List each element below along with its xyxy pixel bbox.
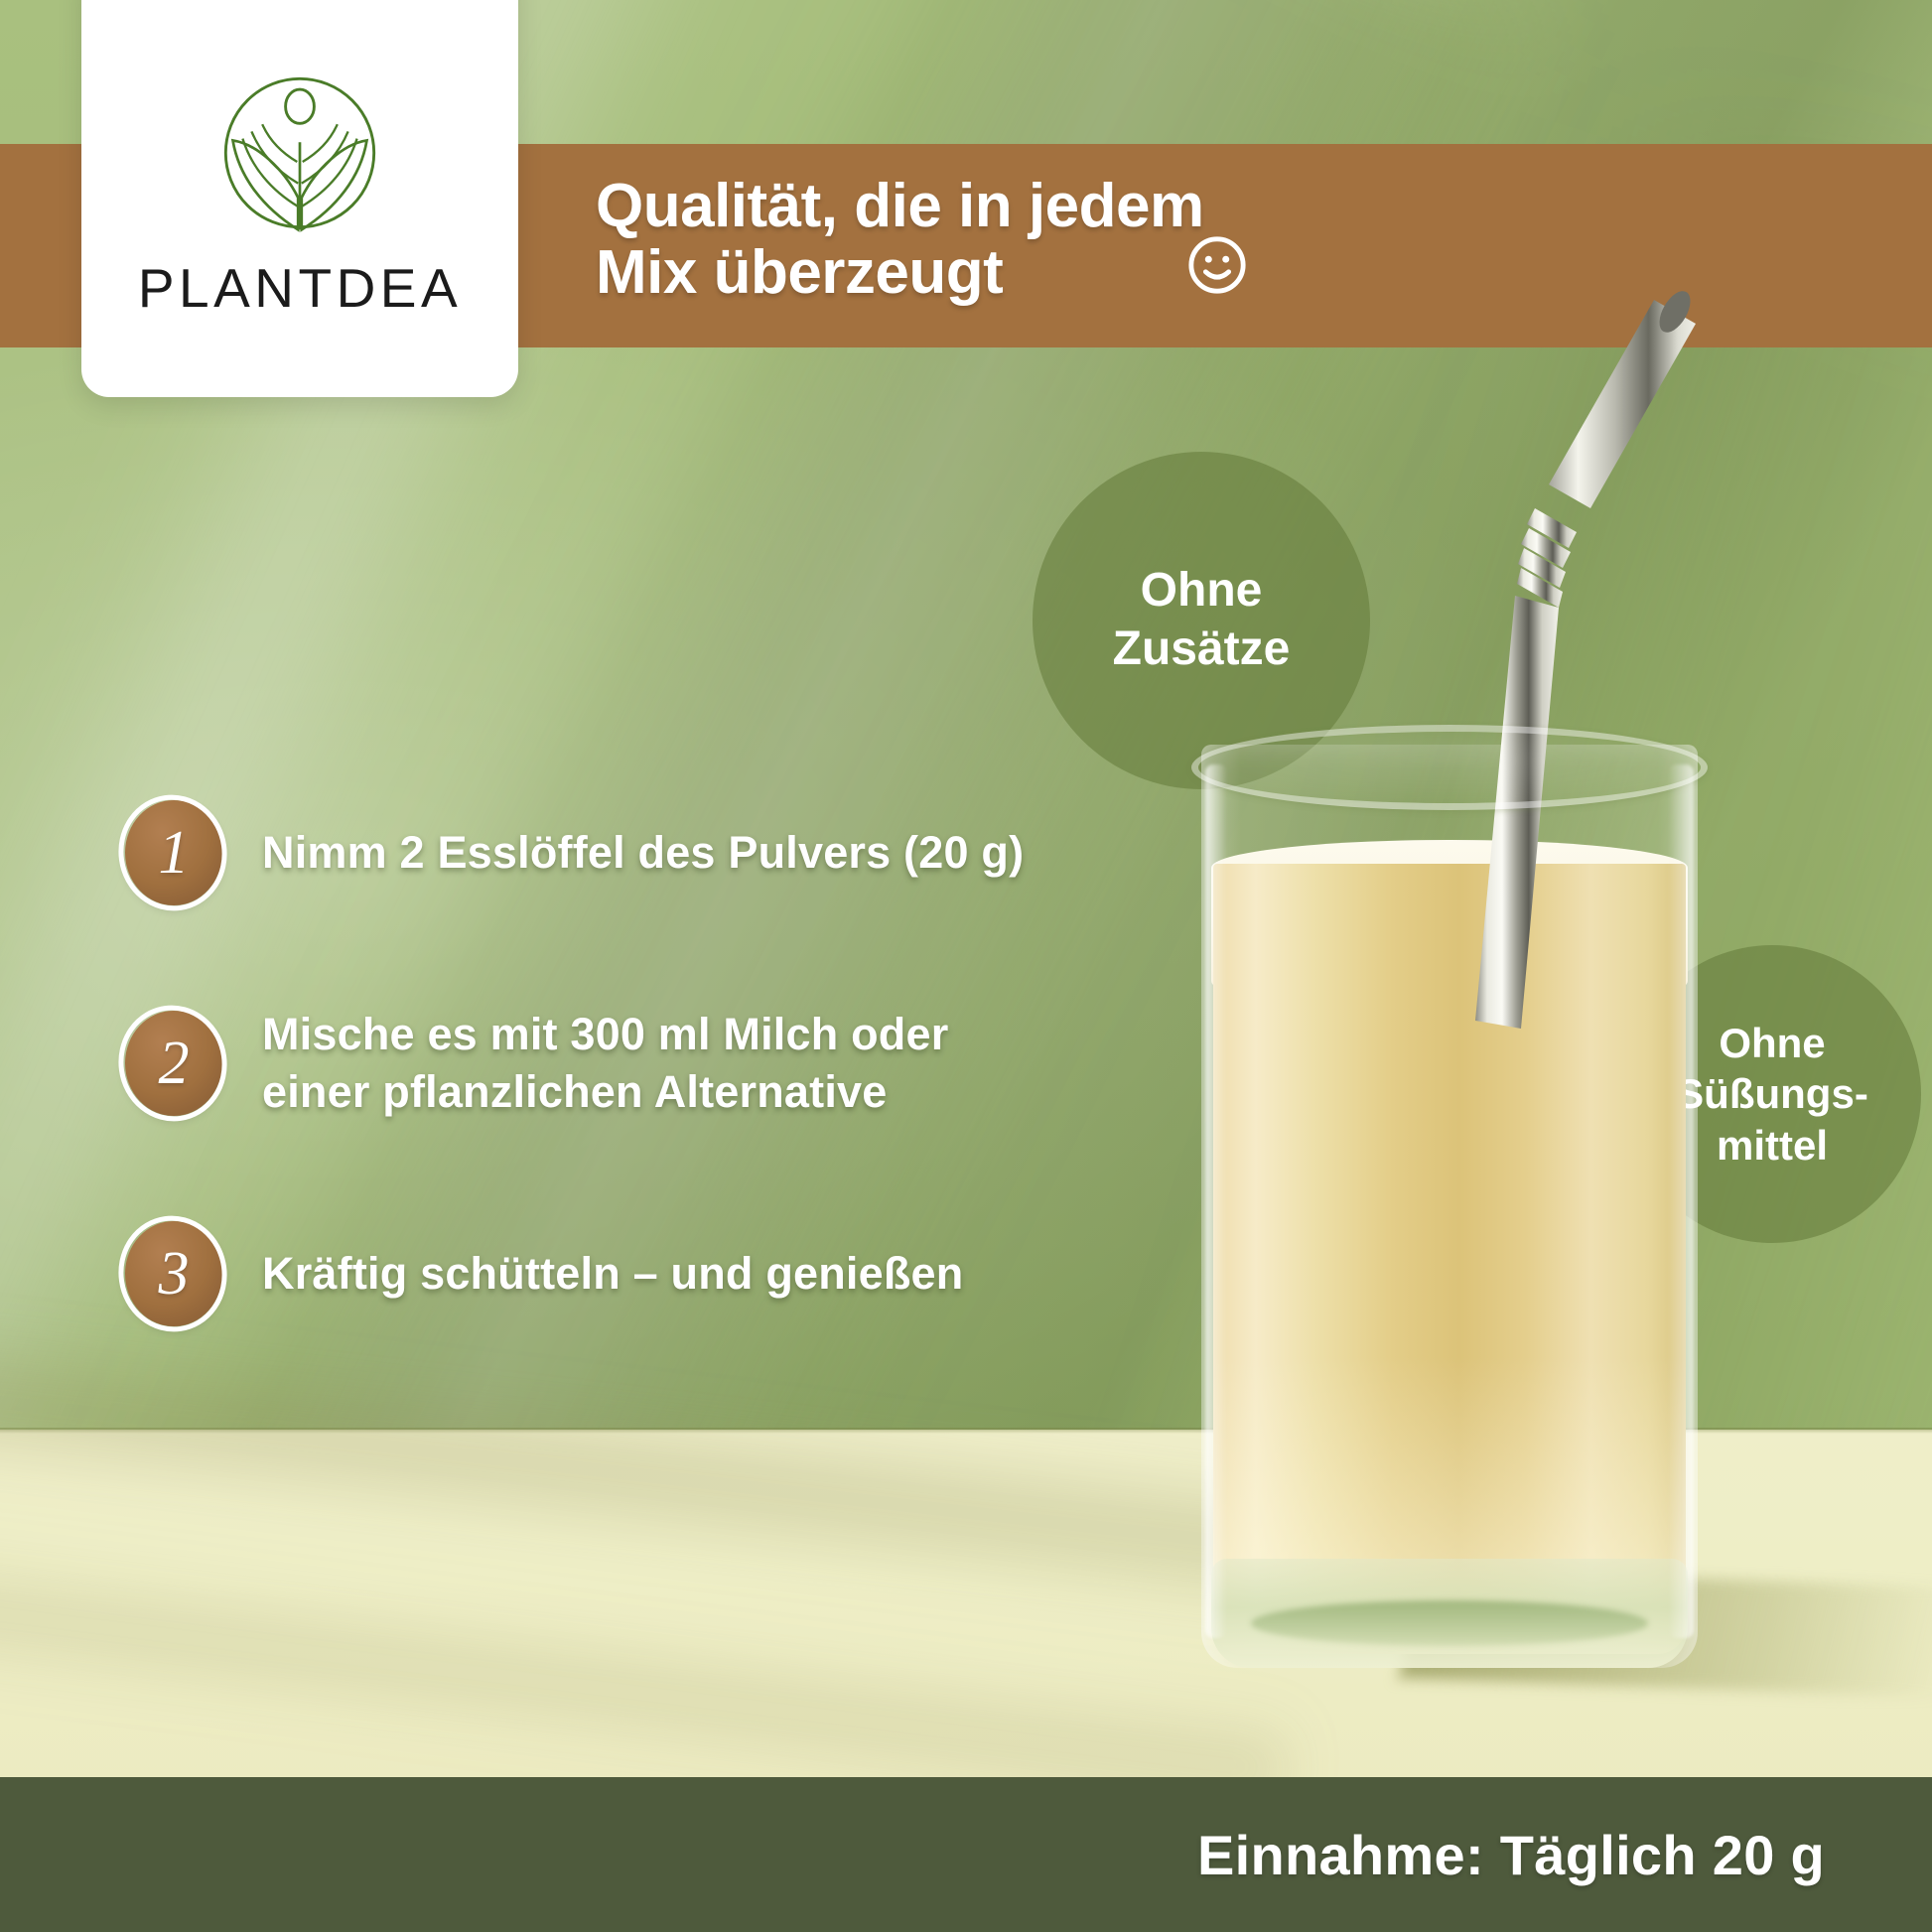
list-item: 2 Mische es mit 300 ml Milch oder einer …	[117, 1005, 1209, 1122]
step-text: Nimm 2 Esslöffel des Pulvers (20 g)	[262, 824, 1024, 883]
step-text: Mische es mit 300 ml Milch oder einer pf…	[262, 1006, 948, 1122]
step-number-badge: 2	[117, 1005, 228, 1122]
smiley-face-icon	[1186, 234, 1248, 296]
glass-highlight-left	[1205, 764, 1227, 1638]
step-number: 2	[117, 1005, 228, 1122]
glass-rim	[1191, 725, 1708, 810]
metal-straw-icon	[1410, 278, 1708, 1033]
brand-name: PLANTDEA	[138, 256, 462, 320]
instruction-step-list: 1 Nimm 2 Esslöffel des Pulvers (20 g) 2 …	[117, 794, 1209, 1332]
step-text: Kräftig schütteln – und genießen	[262, 1245, 963, 1304]
list-item: 1 Nimm 2 Esslöffel des Pulvers (20 g)	[117, 794, 1209, 911]
list-item: 3 Kräftig schütteln – und genießen	[117, 1215, 1209, 1332]
plant-person-circle-icon	[210, 64, 389, 242]
brand-logo-card: PLANTDEA	[81, 0, 518, 397]
glass-base-reflection	[1251, 1600, 1648, 1646]
infographic-canvas: Qualität, die in jedem Mix überzeugt	[0, 0, 1932, 1932]
glass-highlight-right	[1668, 764, 1694, 1638]
dosage-text: Einnahme: Täglich 20 g	[1197, 1823, 1825, 1887]
step-number: 3	[117, 1215, 228, 1332]
step-number-badge: 1	[117, 794, 228, 911]
step-number-badge: 3	[117, 1215, 228, 1332]
step-number: 1	[117, 794, 228, 911]
footer-bar: Einnahme: Täglich 20 g	[0, 1777, 1932, 1932]
